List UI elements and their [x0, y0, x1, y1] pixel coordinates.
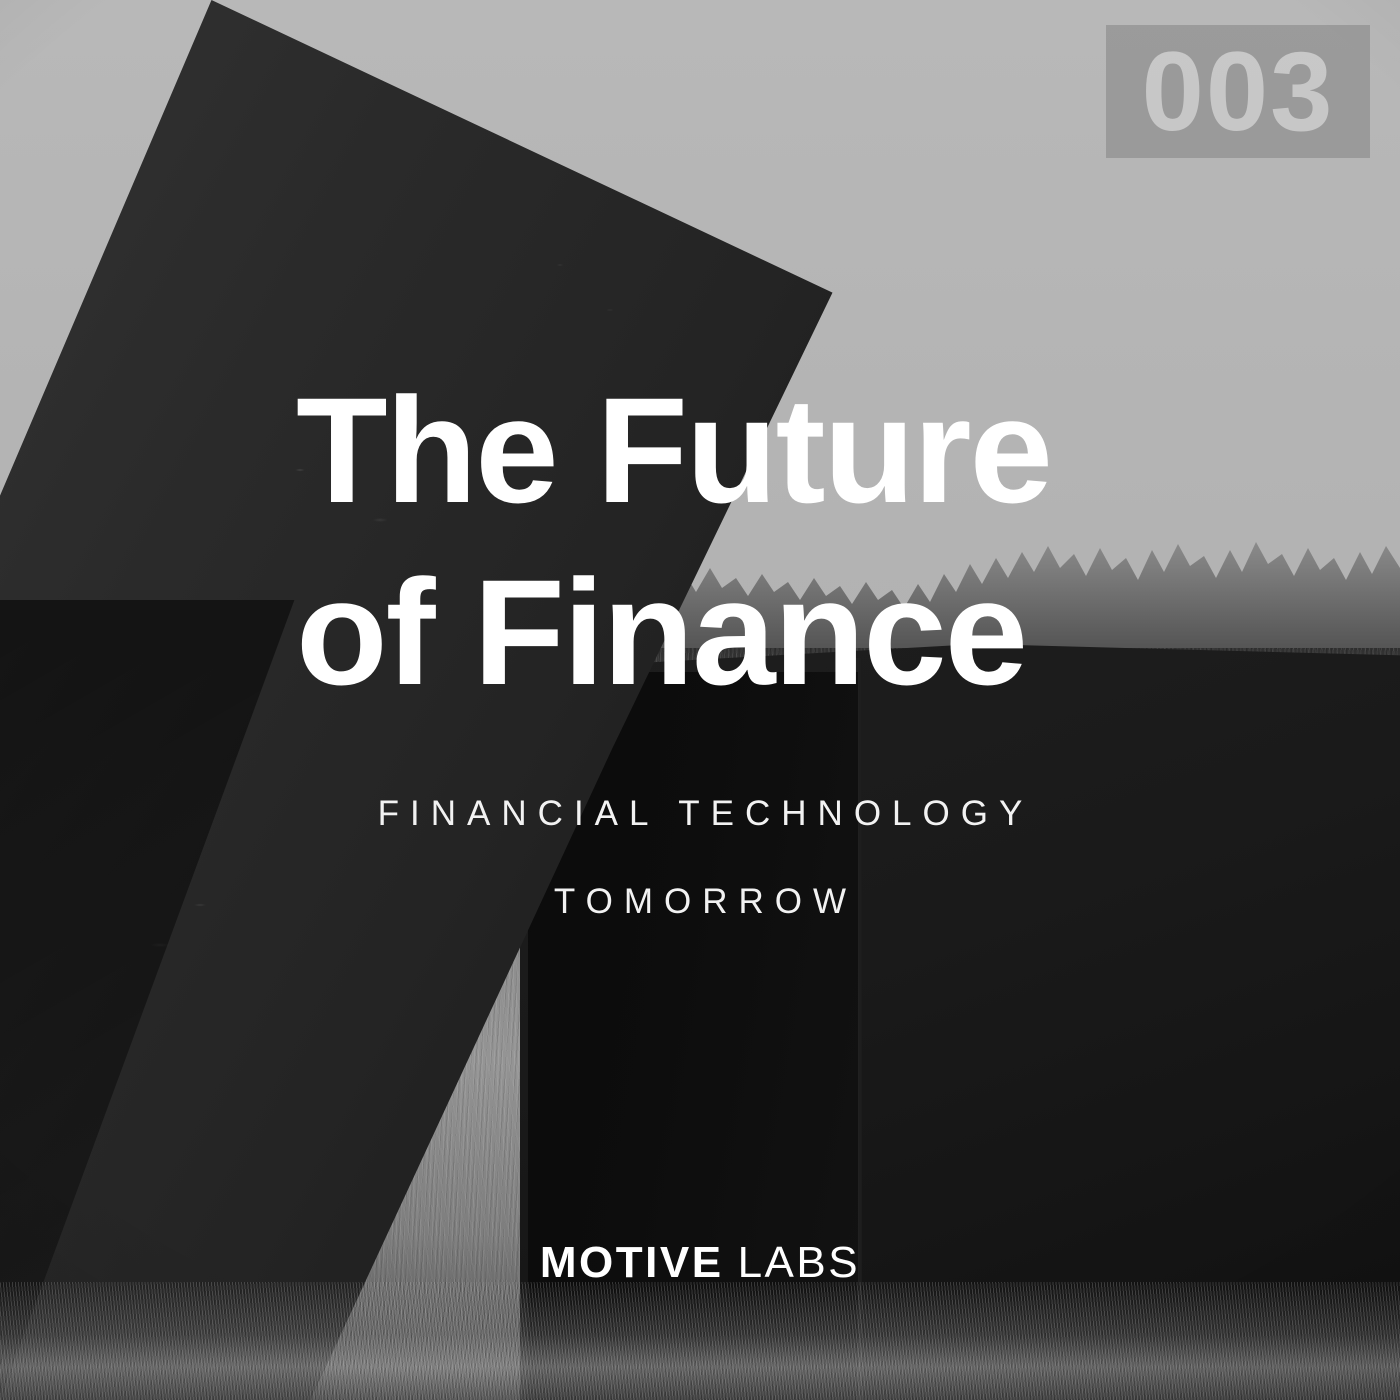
headline: The Future of Finance [296, 360, 1106, 723]
issue-number-badge: 003 [1106, 25, 1370, 158]
poster-canvas: 003 The Future of Finance FINANCIAL TECH… [0, 0, 1400, 1400]
headline-line-1: The Future [296, 360, 1106, 542]
subtitle-line-1: FINANCIAL TECHNOLOGY [0, 770, 1400, 858]
brand-name-secondary: LABS [738, 1238, 861, 1287]
subtitle: FINANCIAL TECHNOLOGY TOMORROW [0, 770, 1400, 945]
issue-number: 003 [1142, 36, 1335, 148]
headline-line-2: of Finance [296, 542, 1106, 724]
subtitle-line-2: TOMORROW [0, 858, 1400, 946]
brand-name-primary: MOTIVE [540, 1238, 724, 1287]
brand-lockup: MOTIVELABS [0, 1238, 1400, 1288]
text-overlay: 003 The Future of Finance FINANCIAL TECH… [0, 0, 1400, 1400]
